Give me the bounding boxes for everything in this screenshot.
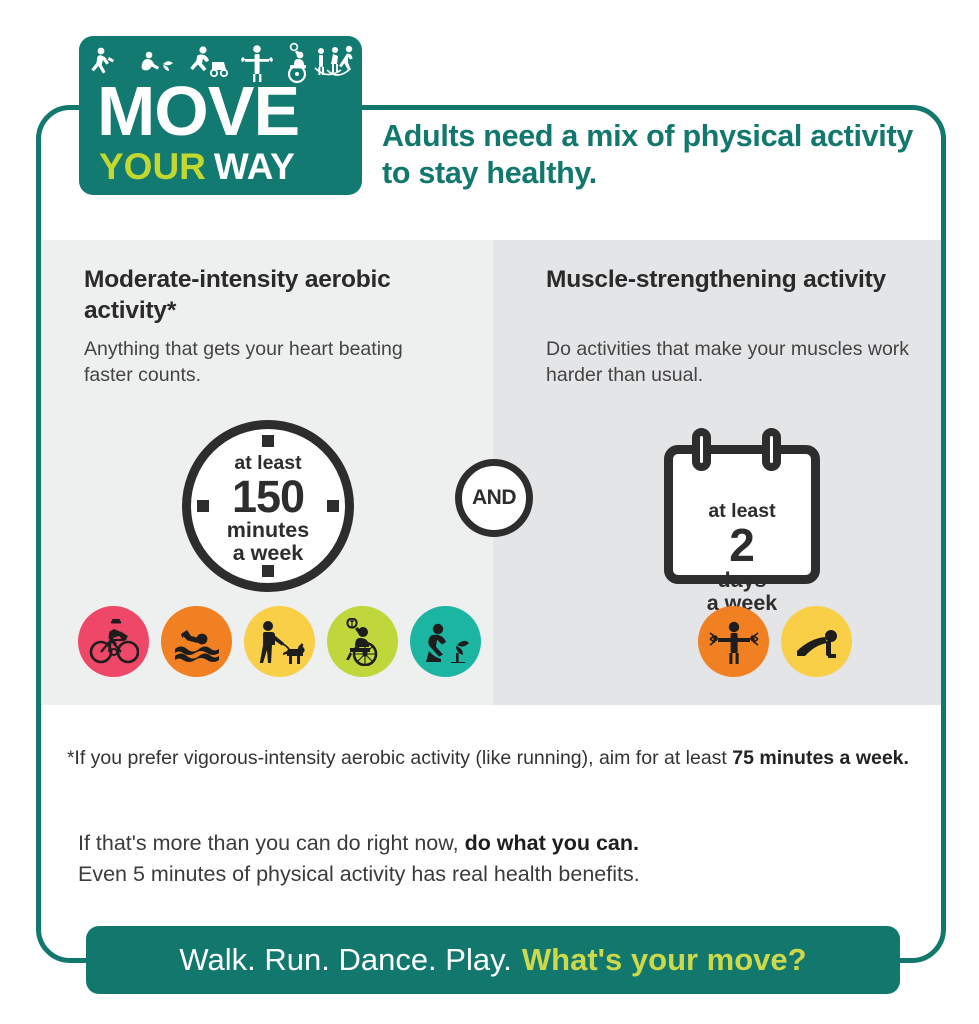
encouragement-line1: If that's more than you can do right now…	[78, 831, 465, 855]
column-title-muscle: Muscle-strengthening activity	[546, 264, 906, 295]
logo-tagline: YOURWAY	[99, 148, 295, 186]
gardening-icon	[410, 606, 481, 677]
encouragement-bold: do what you can.	[465, 831, 639, 855]
clock-tick-6	[262, 565, 274, 577]
calendar-ring-right	[762, 428, 781, 471]
moderate-activity-icons	[78, 606, 481, 677]
resistance-band-icon	[698, 606, 769, 677]
call-to-action-banner: Walk. Run. Dance. Play.What's your move?	[86, 926, 900, 994]
column-subtitle-moderate: Anything that gets your heart beating fa…	[84, 336, 434, 388]
clock-unit-line1: minutes	[191, 519, 345, 542]
calendar-badge-2-days: at least 2 days a week	[664, 428, 820, 584]
calendar-badge-text: at least 2 days a week	[673, 500, 811, 615]
calendar-unit-line1: days	[673, 569, 811, 592]
calendar-amount: 2	[673, 522, 811, 569]
and-connector-badge: AND	[455, 459, 533, 537]
bicycling-icon	[78, 606, 149, 677]
move-your-way-logo: MOVE YOURWAY	[79, 36, 362, 195]
clock-amount: 150	[191, 474, 345, 519]
clock-badge-150-minutes: at least 150 minutes a week	[182, 420, 354, 592]
push-up-icon	[781, 606, 852, 677]
encouragement-line2: Even 5 minutes of physical activity has …	[78, 862, 640, 886]
column-subtitle-muscle: Do activities that make your muscles wor…	[546, 336, 926, 388]
clock-tick-12	[262, 435, 274, 447]
logo-word-way: WAY	[214, 146, 295, 187]
banner-highlight-text: What's your move?	[522, 942, 807, 978]
logo-word-move: MOVE	[97, 80, 347, 142]
banner-plain-text: Walk. Run. Dance. Play.	[179, 942, 512, 978]
panel-moderate-aerobic: Moderate-intensity aerobic activity* Any…	[41, 240, 493, 705]
page-title: Adults need a mix of physical activity t…	[382, 118, 934, 192]
swimming-icon	[161, 606, 232, 677]
muscle-activity-icons	[698, 606, 852, 677]
infographic-root: MOVE YOURWAY Adults need a mix of physic…	[0, 0, 979, 1024]
logo-word-your: YOUR	[99, 146, 206, 187]
encouragement-text: If that's more than you can do right now…	[78, 828, 918, 890]
footnote-vigorous: *If you prefer vigorous-intensity aerobi…	[67, 745, 927, 772]
dog-walking-icon	[244, 606, 315, 677]
panel-muscle-strengthening: Muscle-strengthening activity Do activit…	[493, 240, 941, 705]
column-title-moderate: Moderate-intensity aerobic activity*	[84, 264, 414, 326]
calendar-body: at least 2 days a week	[664, 445, 820, 584]
clock-badge-text: at least 150 minutes a week	[191, 453, 345, 565]
footnote-text: If you prefer vigorous-intensity aerobic…	[74, 747, 732, 769]
wheelchair-basketball-icon	[327, 606, 398, 677]
calendar-ring-left	[692, 428, 711, 471]
clock-unit-line2: a week	[191, 542, 345, 565]
footnote-bold: 75 minutes a week.	[732, 747, 909, 769]
